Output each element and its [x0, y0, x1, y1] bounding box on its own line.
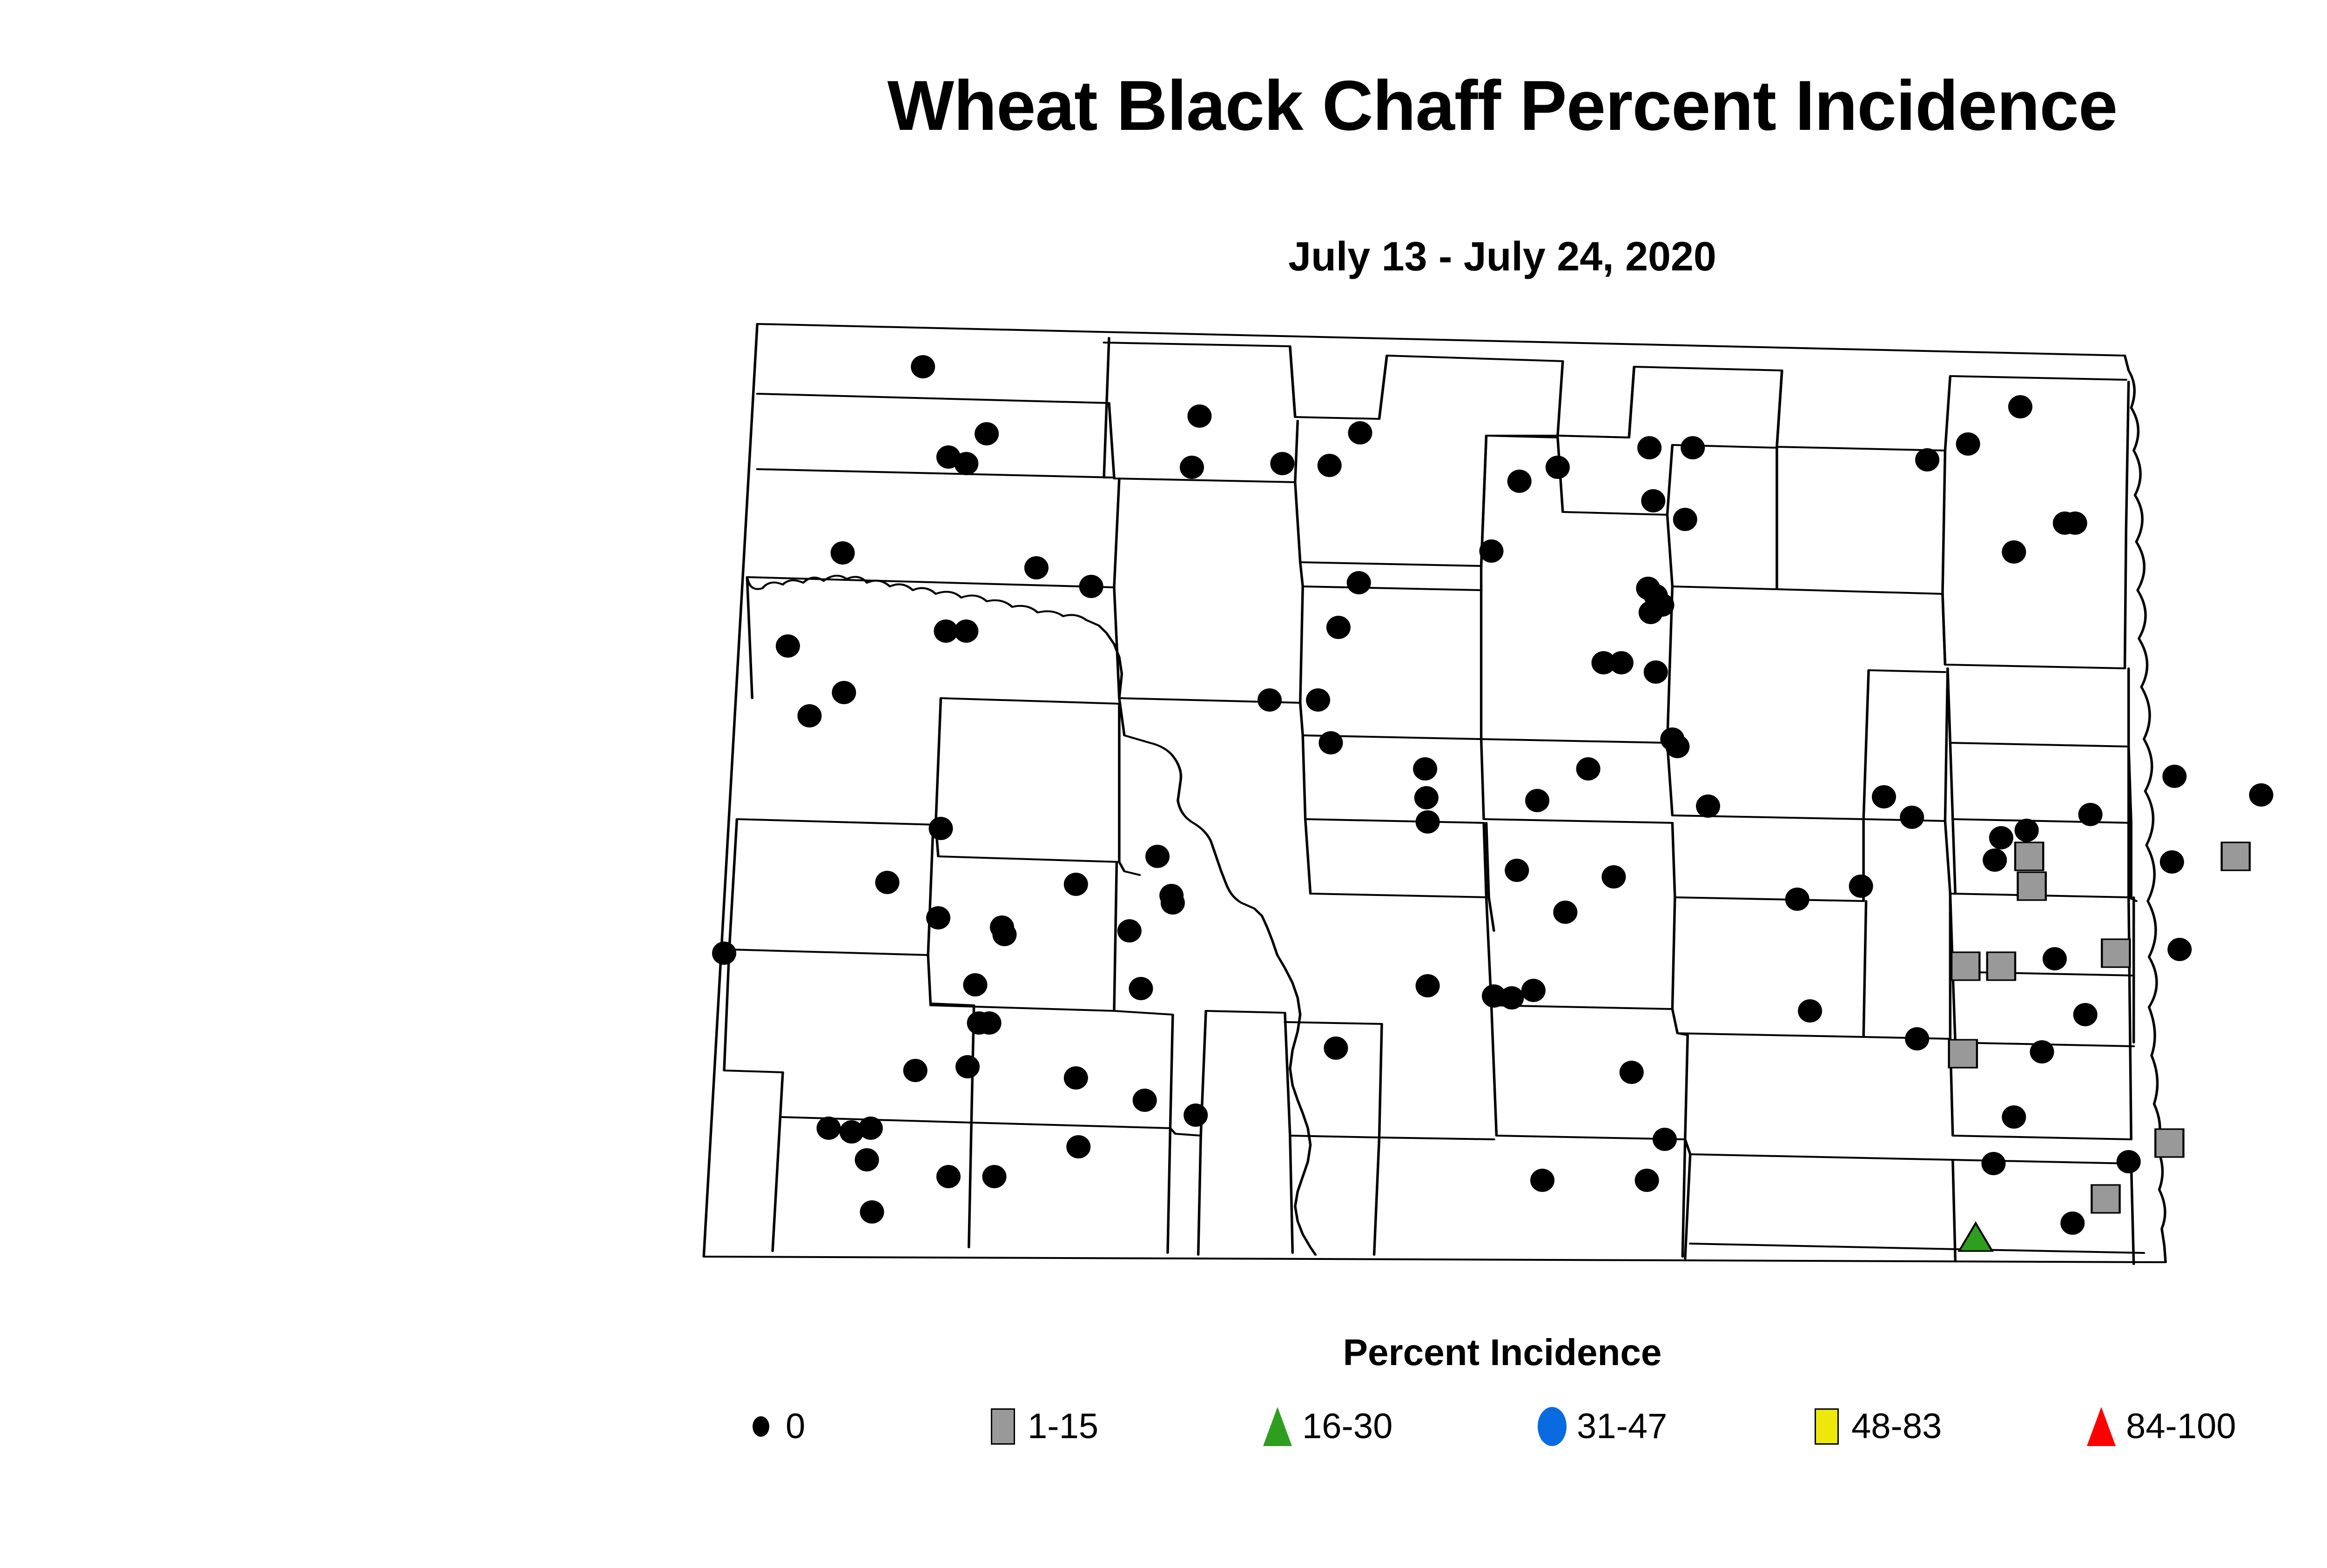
legend-item-0[interactable]: 0 — [745, 1396, 805, 1457]
data-point-0 — [1318, 454, 1342, 477]
data-point-0 — [1079, 575, 1103, 598]
data-point-0 — [1414, 786, 1439, 809]
data-point-0 — [1798, 999, 1822, 1023]
data-point-0 — [1270, 452, 1294, 475]
data-point-0 — [2030, 1040, 2054, 1063]
data-point-0 — [977, 1011, 1002, 1035]
circle-icon — [745, 1408, 777, 1445]
data-point-0 — [1637, 436, 1661, 459]
data-point-0 — [1024, 556, 1049, 579]
data-point-0 — [1900, 806, 1924, 829]
data-point-0 — [1601, 865, 1626, 888]
legend-item-31-47[interactable]: 31-47 — [1536, 1396, 1667, 1457]
data-point-0 — [1905, 1027, 1929, 1050]
data-point-0 — [1872, 785, 1896, 808]
data-point-0 — [1416, 810, 1440, 834]
data-point-0 — [1546, 456, 1570, 479]
page-subtitle: July 13 - July 24, 2020 — [0, 233, 2327, 280]
data-point-0 — [1129, 977, 1153, 1000]
data-point-0 — [911, 355, 935, 378]
data-point-0 — [2073, 1003, 2098, 1026]
data-point-0 — [928, 817, 953, 840]
map-svg — [666, 298, 2322, 1322]
data-point-0 — [2249, 783, 2273, 807]
legend: 01-1516-3031-4748-8384-100 — [745, 1396, 2327, 1461]
data-point-0 — [1180, 456, 1204, 479]
legend-item-84-100[interactable]: 84-100 — [2085, 1396, 2236, 1457]
data-point-0 — [1644, 660, 1668, 684]
legend-label: 48-83 — [1851, 1409, 1942, 1444]
map-page: Wheat Black Chaff Percent Incidence July… — [0, 0, 2327, 1568]
data-point-0 — [1681, 436, 1705, 459]
data-point-0 — [1576, 757, 1601, 781]
data-point-0 — [855, 1148, 879, 1171]
data-point-0 — [2160, 850, 2184, 874]
data-point-0 — [797, 704, 821, 727]
data-point-1-15 — [2092, 1185, 2119, 1213]
data-point-0 — [1525, 789, 1549, 812]
data-point-0 — [936, 1165, 961, 1188]
data-point-0 — [1696, 794, 1720, 818]
data-point-0 — [1635, 1169, 1659, 1192]
data-point-0 — [1650, 593, 1674, 617]
data-point-0 — [1665, 735, 1689, 758]
data-point-0 — [832, 681, 856, 704]
data-point-0 — [1989, 826, 2013, 849]
legend-title: Percent Incidence — [0, 1331, 2327, 1374]
data-point-0 — [860, 1200, 884, 1224]
data-point-0 — [1348, 421, 1372, 444]
data-point-0 — [2008, 395, 2032, 418]
data-point-0 — [1145, 845, 1170, 868]
data-point-0 — [1133, 1089, 1157, 1112]
data-point-0 — [1521, 979, 1546, 1002]
data-point-1-15 — [2222, 842, 2250, 870]
data-point-0 — [1507, 470, 1532, 493]
data-point-0 — [1553, 901, 1577, 924]
data-point-0 — [1653, 1128, 1677, 1151]
data-point-0 — [1066, 1135, 1090, 1158]
data-point-0 — [2043, 947, 2067, 970]
data-point-0 — [875, 871, 899, 894]
data-point-0 — [776, 634, 800, 658]
data-point-0 — [963, 973, 987, 996]
data-point-0 — [1983, 848, 2007, 872]
legend-item-1-15[interactable]: 1-15 — [987, 1396, 1098, 1457]
data-point-0 — [982, 1165, 1007, 1188]
data-point-0 — [859, 1117, 883, 1140]
data-point-0 — [1161, 891, 1185, 915]
data-point-0 — [2162, 765, 2186, 788]
square-icon — [1810, 1408, 1843, 1445]
data-point-0 — [1326, 616, 1351, 639]
data-point-0 — [1413, 757, 1437, 781]
legend-item-16-30[interactable]: 16-30 — [1261, 1396, 1392, 1457]
square-icon — [987, 1408, 1019, 1445]
data-point-0 — [1306, 688, 1330, 712]
data-point-0 — [1530, 1169, 1554, 1192]
data-point-0 — [1609, 651, 1634, 674]
data-point-0 — [1505, 859, 1529, 882]
data-point-0 — [1064, 1066, 1088, 1090]
legend-label: 0 — [786, 1409, 805, 1444]
page-title: Wheat Black Chaff Percent Incidence — [0, 65, 2327, 147]
data-point-0 — [2117, 1150, 2141, 1173]
legend-label: 31-47 — [1577, 1409, 1667, 1444]
data-point-1-15 — [1987, 952, 2015, 980]
north-dakota-map — [666, 298, 2322, 1322]
data-point-0 — [954, 452, 978, 475]
data-point-0 — [955, 1055, 980, 1078]
legend-label: 16-30 — [1302, 1409, 1392, 1444]
data-point-0 — [954, 619, 978, 643]
data-point-0 — [817, 1117, 841, 1140]
data-point-0 — [2078, 803, 2103, 826]
data-point-0 — [992, 923, 1016, 946]
data-point-0 — [1258, 688, 1282, 712]
data-point-0 — [2015, 819, 2039, 842]
data-point-0 — [1641, 489, 1665, 512]
legend-item-48-83[interactable]: 48-83 — [1810, 1396, 1942, 1457]
data-point-0 — [1915, 448, 1939, 471]
data-point-0 — [831, 541, 855, 565]
data-point-0 — [2063, 511, 2087, 535]
data-point-0 — [1184, 1104, 1208, 1127]
data-point-0 — [1673, 508, 1697, 531]
data-point-1-15 — [2015, 842, 2043, 870]
data-point-0 — [1117, 919, 1142, 942]
data-point-0 — [1620, 1061, 1644, 1084]
data-point-1-15 — [2018, 872, 2046, 900]
legend-label: 84-100 — [2126, 1409, 2236, 1444]
data-point-0 — [712, 942, 736, 965]
data-point-0 — [2002, 540, 2026, 564]
data-point-0 — [1318, 731, 1343, 754]
data-point-0 — [903, 1059, 928, 1082]
triangle-icon — [2085, 1408, 2118, 1445]
data-point-0 — [2060, 1211, 2085, 1235]
data-point-0 — [926, 906, 950, 929]
circle-icon — [1536, 1408, 1568, 1445]
data-point-0 — [1849, 875, 1873, 898]
data-point-0 — [1981, 1152, 2005, 1175]
legend-label: 1-15 — [1028, 1409, 1098, 1444]
data-point-0 — [1324, 1036, 1348, 1060]
data-point-0 — [1187, 404, 1211, 428]
data-point-0 — [2002, 1105, 2026, 1129]
data-point-0 — [975, 422, 999, 445]
data-point-0 — [1416, 974, 1440, 997]
triangle-icon — [1261, 1408, 1294, 1445]
data-point-16-30 — [1959, 1223, 1992, 1251]
data-point-0 — [1480, 539, 1504, 563]
data-point-0 — [1956, 432, 1980, 456]
data-point-1-15 — [1951, 952, 1979, 980]
data-point-0 — [1500, 986, 1524, 1009]
data-point-1-15 — [2102, 939, 2130, 967]
data-point-1-15 — [1949, 1040, 1977, 1068]
data-point-0 — [1785, 888, 1809, 911]
data-point-0 — [2167, 938, 2192, 961]
data-point-0 — [1347, 571, 1371, 594]
data-point-1-15 — [2155, 1129, 2183, 1157]
data-points — [712, 355, 2273, 1251]
data-point-0 — [1064, 873, 1088, 896]
